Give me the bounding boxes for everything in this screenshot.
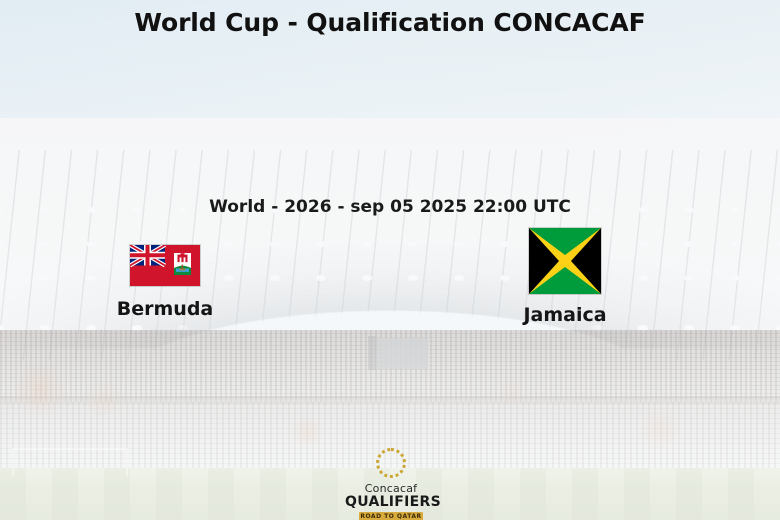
away-team-block: Jamaica bbox=[455, 222, 675, 326]
logo-banner-road-to-qatar: ROAD TO QATAR bbox=[359, 512, 423, 520]
logo-line-concacaf: Concacaf bbox=[345, 483, 437, 494]
away-team-name: Jamaica bbox=[455, 304, 675, 326]
away-team-flag-slot bbox=[455, 222, 675, 294]
home-team-flag-slot bbox=[55, 238, 275, 286]
home-team-name: Bermuda bbox=[55, 298, 275, 320]
logo-line-qualifiers: QUALIFIERS bbox=[345, 495, 437, 509]
flag-jamaica-icon bbox=[529, 228, 601, 294]
home-team-block: Bermuda bbox=[55, 238, 275, 320]
competition-logo: Concacaf QUALIFIERS ROAD TO QATAR bbox=[345, 448, 437, 520]
match-meta-line: World - 2026 - sep 05 2025 22:00 UTC bbox=[0, 197, 780, 217]
concacaf-ring-icon bbox=[376, 448, 406, 478]
flag-bermuda-icon bbox=[130, 245, 200, 286]
match-preview-screenshot: World Cup - Qualification CONCACAF World… bbox=[0, 0, 780, 520]
page-title: World Cup - Qualification CONCACAF bbox=[0, 8, 780, 37]
